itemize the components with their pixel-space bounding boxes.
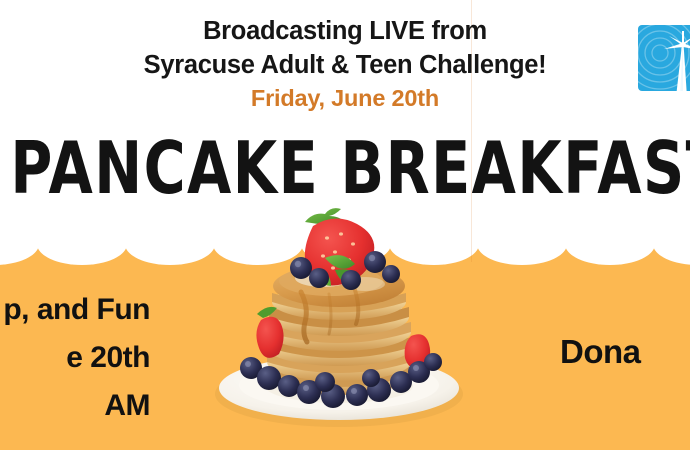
page-title: PANCAKE BREAKFAST!: [10, 126, 679, 211]
broadcast-headline-line1: Broadcasting LIVE from: [0, 14, 690, 48]
broadcast-tower-icon: [636, 23, 690, 101]
event-detail-line-2: e 20th: [0, 334, 150, 382]
donation-text-right-partial: Dona: [560, 330, 690, 374]
event-detail-line-3: AM: [0, 382, 150, 430]
broadcast-headline-line2: Syracuse Adult & Teen Challenge!: [0, 48, 690, 82]
donation-line-1: Dona: [560, 330, 690, 374]
event-date-text: Friday, June 20th: [0, 82, 690, 115]
event-details-left-partial: p, and Fun e 20th AM: [0, 286, 150, 430]
event-detail-line-1: p, and Fun: [0, 286, 150, 334]
pancake-stack-photo: [205, 196, 473, 431]
header-text-block: Broadcasting LIVE from Syracuse Adult & …: [0, 14, 690, 115]
pancake-breakfast-poster: Broadcasting LIVE from Syracuse Adult & …: [0, 0, 690, 450]
